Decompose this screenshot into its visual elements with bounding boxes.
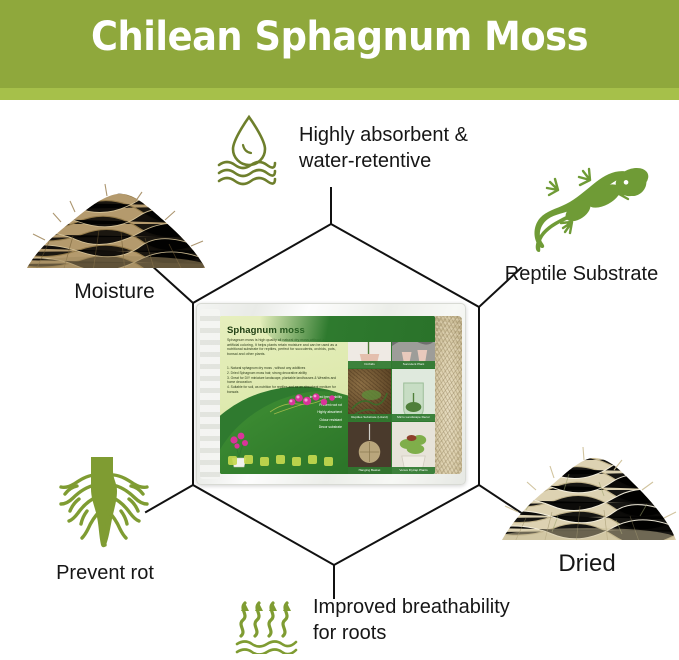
feature-label-moisture: Moisture [12, 279, 217, 305]
feature-reptile-substrate: Reptile Substrate [484, 166, 679, 287]
package-photo-cell: Micro Landscape Decor [392, 369, 435, 421]
package-photo-caption: Micro Landscape Decor [392, 414, 435, 421]
plant-roots-icon [53, 536, 157, 553]
gecko-foot-front-left [547, 179, 558, 195]
airflow-waves-icon [233, 592, 299, 654]
package-photo-caption: Venus Flytrap Plants [392, 467, 435, 474]
feature-label-reptile-substrate: Reptile Substrate [484, 261, 679, 287]
package-photo-cell: Venus Flytrap Plants [392, 422, 435, 474]
package-zip-seal [200, 309, 220, 479]
feature-breathability: Improved breathability for roots [233, 592, 563, 654]
label-feature-icon-row [226, 452, 344, 470]
package-benefit: Odour resistant [254, 417, 346, 425]
package-benefit: Decor substrate [254, 424, 346, 432]
feature-moisture: Moisture [12, 176, 217, 305]
package-label: Sphagnum moss Sphagnum moss is high qual… [220, 316, 435, 474]
label-icon-moss [308, 455, 317, 464]
package-bullet: 1. Natural sphagnum dry moss , without a… [227, 366, 343, 370]
feature-label-highly-absorbent: Highly absorbent & water-retentive [299, 113, 468, 174]
label-icon-sun [260, 457, 269, 466]
package-photo-caption: Hanging Basket [348, 467, 391, 474]
page-title: Chilean Sphagnum Moss [27, 14, 652, 60]
feature-dried: Dried [492, 440, 679, 577]
package-photo-caption: Orchids [348, 361, 391, 368]
label-icon-leaf [228, 456, 237, 465]
feature-label-dried: Dried [492, 551, 679, 577]
header-banner-stripe [0, 88, 679, 100]
label-icon-root [292, 457, 301, 466]
gecko-foot-front-right [579, 169, 590, 185]
package-photo-caption: Succulent Plant [392, 361, 435, 368]
feature-prevent-rot: Prevent rot [20, 455, 190, 586]
label-top-green-band: SUKH® [260, 316, 435, 342]
label-icon-pot [276, 455, 285, 464]
gecko-foot-rear-left [561, 222, 572, 233]
gecko-lizard-icon [512, 239, 652, 256]
package-photo-cell: Reptiles Substrate (Lizard) [348, 369, 391, 421]
feature-label-prevent-rot: Prevent rot [20, 560, 190, 586]
package-visible-moss [435, 316, 462, 474]
package-bullet: 3. Great for DIY miniature landscape, pl… [227, 376, 343, 385]
package-bullet: 2. Dried Sphagnum moss hair, strong deco… [227, 371, 343, 375]
orchid-flowers-graphic [268, 390, 340, 416]
label-icon-drop [244, 455, 253, 464]
package-photo-cell: Hanging Basket [348, 422, 391, 474]
water-drop-waves-icon [213, 113, 285, 187]
package-photo-caption: Reptiles Substrate (Lizard) [348, 414, 391, 421]
infographic-page: Chilean Sphagnum Moss Highl [0, 0, 679, 660]
product-package: Sphagnum moss Sphagnum moss is high qual… [196, 303, 466, 485]
label-icon-air [324, 457, 333, 466]
feature-label-breathability: Improved breathability for roots [313, 592, 510, 646]
feature-highly-absorbent: Highly absorbent & water-retentive [213, 113, 483, 187]
moss-pile-dried-photo [492, 533, 679, 550]
moss-pile-moist-photo [15, 259, 215, 276]
